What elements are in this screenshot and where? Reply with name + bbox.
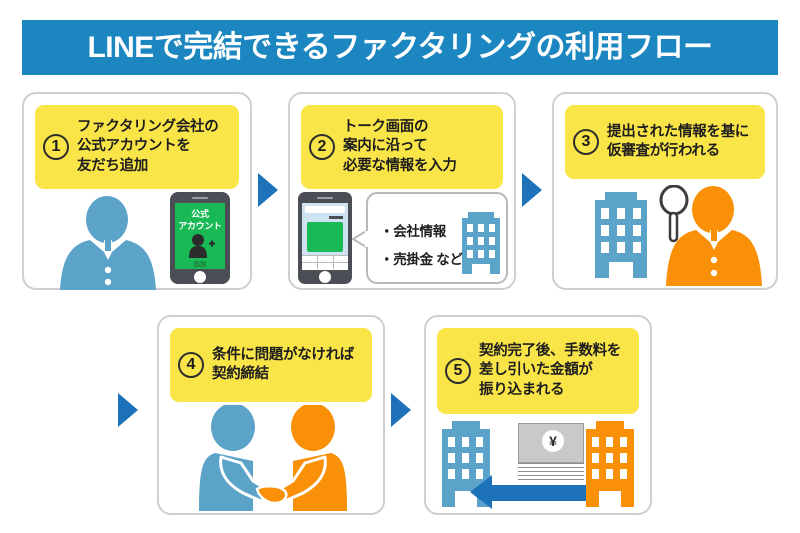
- step-1-text: ファクタリング会社の 公式アカウントを 友だち追加: [77, 118, 218, 175]
- step-2-label: 2 トーク画面の 案内に沿って 必要な情報を入力: [301, 105, 503, 189]
- arrow-step2-to-step3: [522, 173, 542, 207]
- phone-home-button[interactable]: [194, 271, 206, 283]
- step-5-text-line-1: 契約完了後、手数料を: [479, 342, 621, 361]
- add-friend-icon: [187, 234, 215, 258]
- step-2-text: トーク画面の 案内に沿って 必要な情報を入力: [343, 118, 457, 175]
- phone-speaker-icon: [192, 197, 208, 199]
- arrow-step4-to-step5: [391, 393, 411, 427]
- step-2-text-line-1: トーク画面の: [343, 118, 457, 137]
- arrow-step3-to-step4: [118, 393, 138, 427]
- step-2-text-line-3: 必要な情報を入力: [343, 157, 457, 176]
- info-callout: ・会社情報 ・売掛金 など: [366, 192, 508, 284]
- page-title: LINEで完結できるファクタリングの利用フロー: [87, 33, 712, 63]
- money-layer-1: [518, 463, 584, 464]
- money-layer-5: [518, 479, 584, 480]
- infographic-canvas: LINEで完結できるファクタリングの利用フロー 1 ファクタリング会社の 公式ア…: [0, 0, 800, 533]
- step-3-label: 3 提出された情報を基に 仮審査が行われる: [565, 105, 765, 179]
- step-3-text-line-1: 提出された情報を基に: [607, 123, 749, 142]
- step-card-5: 5 契約完了後、手数料を 差し引いた金額が 振り込まれる: [424, 315, 652, 515]
- phone-screen-title-line-2: アカウント: [175, 221, 225, 231]
- step-4-text: 条件に問題がなければ 契約締結: [212, 346, 354, 384]
- money-layer-4: [518, 475, 584, 476]
- step-4-text-line-1: 条件に問題がなければ: [212, 346, 354, 365]
- step-5-label: 5 契約完了後、手数料を 差し引いた金額が 振り込まれる: [437, 328, 639, 414]
- step-card-1: 1 ファクタリング会社の 公式アカウントを 友だち追加 公式: [22, 92, 252, 290]
- step-3-text: 提出された情報を基に 仮審査が行われる: [607, 123, 749, 161]
- step-5-illustration: ¥: [426, 413, 650, 513]
- talk-dots-icon: [329, 216, 343, 219]
- phone-add-button[interactable]: 追加: [175, 258, 225, 268]
- step-2-text-line-2: 案内に沿って: [343, 137, 457, 156]
- step-4-label: 4 条件に問題がなければ 契約締結: [170, 328, 372, 402]
- step-2-illustration: ・会社情報 ・売掛金 など: [290, 190, 514, 288]
- step-1-illustration: 公式 アカウント 追加: [24, 190, 250, 288]
- building-icon-source: [584, 421, 636, 507]
- callout-tail-icon: [352, 228, 368, 250]
- money-stack-icon: ¥: [518, 423, 584, 463]
- person-head-icon: [692, 186, 734, 233]
- person-body-icon: [60, 238, 156, 290]
- phone-device: 公式 アカウント 追加: [170, 192, 230, 284]
- step-5-number: 5: [445, 358, 471, 384]
- phone-device: [298, 192, 352, 284]
- person-body-icon: [666, 228, 762, 286]
- step-1-text-line-2: 公式アカウントを: [77, 137, 218, 156]
- phone-speaker-icon: [317, 197, 333, 199]
- step-3-text-line-2: 仮審査が行われる: [607, 142, 749, 161]
- step-card-2: 2 トーク画面の 案内に沿って 必要な情報を入力: [288, 92, 516, 290]
- talk-search-bar: [305, 206, 345, 213]
- step-5-text-line-3: 振り込まれる: [479, 381, 621, 400]
- phone-screen-title-line-1: 公式: [175, 209, 225, 219]
- step-4-illustration: [159, 401, 383, 513]
- step-4-number: 4: [178, 352, 204, 378]
- transfer-arrow-head-icon: [470, 475, 492, 509]
- step-2-number: 2: [309, 134, 335, 160]
- step-1-number: 1: [43, 134, 69, 160]
- talk-key-divider-3: [302, 262, 348, 263]
- step-5-text: 契約完了後、手数料を 差し引いた金額が 振り込まれる: [479, 342, 621, 399]
- step-5-text-line-2: 差し引いた金額が: [479, 361, 621, 380]
- callout-item-2: ・売掛金 など: [380, 248, 463, 268]
- phone-home-button[interactable]: [319, 271, 331, 283]
- phone-talk-screen: [302, 203, 348, 269]
- step-1-text-line-3: 友だち追加: [77, 157, 218, 176]
- talk-message-bubble: [307, 222, 343, 252]
- step-1-text-line-1: ファクタリング会社の: [77, 118, 218, 137]
- step-card-4: 4 条件に問題がなければ 契約締結: [157, 315, 385, 515]
- step-3-illustration: [554, 180, 776, 288]
- callout-item-1: ・会社情報: [380, 220, 463, 240]
- step-4-text-line-2: 契約締結: [212, 365, 354, 384]
- step-3-number: 3: [573, 129, 599, 155]
- building-icon: [460, 212, 502, 274]
- title-banner: LINEで完結できるファクタリングの利用フロー: [22, 20, 778, 75]
- handshake-icon: [191, 405, 355, 511]
- step-1-label: 1 ファクタリング会社の 公式アカウントを 友だち追加: [35, 105, 239, 189]
- step-card-3: 3 提出された情報を基に 仮審査が行われる: [552, 92, 778, 290]
- money-layer-3: [518, 471, 584, 472]
- building-icon: [592, 192, 650, 278]
- person-head-icon: [86, 196, 128, 243]
- transfer-arrow-shaft: [492, 485, 590, 501]
- money-layer-2: [518, 467, 584, 468]
- phone-screen: 公式 アカウント 追加: [175, 203, 225, 269]
- arrow-step1-to-step2: [258, 173, 278, 207]
- callout-items: ・会社情報 ・売掛金 など: [380, 220, 463, 268]
- yen-symbol: ¥: [542, 430, 564, 452]
